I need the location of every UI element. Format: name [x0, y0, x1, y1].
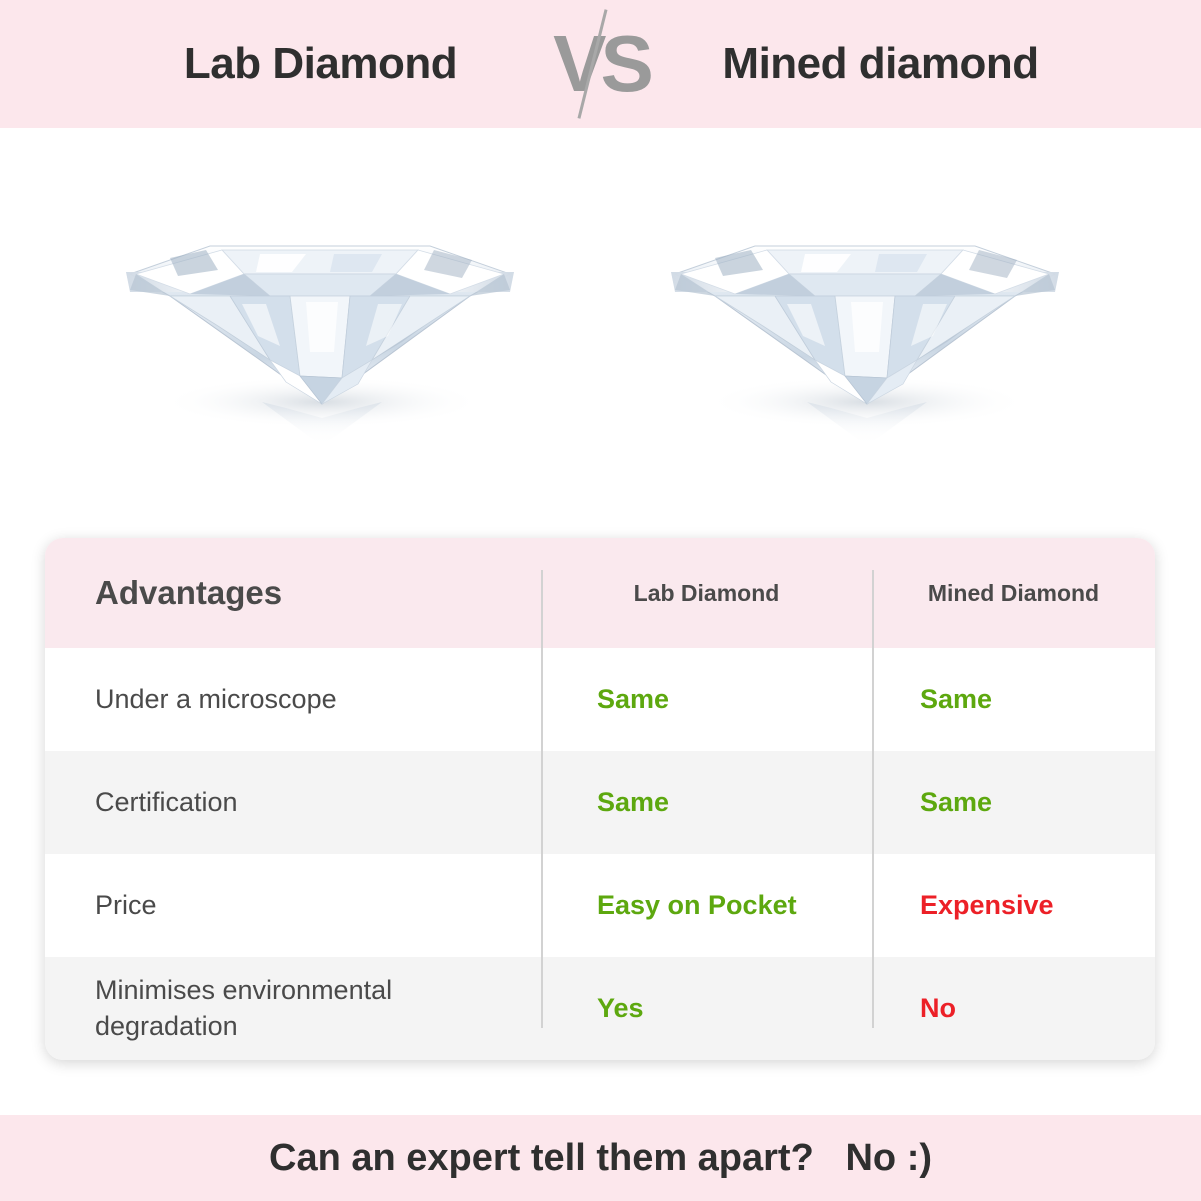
footer-question: Can an expert tell them apart? No :) [269, 1137, 932, 1180]
comparison-table-card: Advantages Lab Diamond Mined Diamond Und… [45, 538, 1155, 1060]
diamond-images-area [0, 128, 1201, 528]
table-row: Price Easy on Pocket Expensive [45, 854, 1155, 957]
column-header-advantages: Advantages [45, 574, 541, 612]
row-feature-label: Price [45, 888, 541, 924]
row-mined-value: Same [872, 787, 1155, 818]
column-divider-1 [541, 570, 543, 1028]
header-title-mined: Mined diamond [666, 39, 1096, 89]
row-lab-value: Same [541, 684, 872, 715]
header-band: Lab Diamond VS Mined diamond [0, 0, 1201, 128]
column-divider-2 [872, 570, 874, 1028]
row-mined-value: Same [872, 684, 1155, 715]
table-row: Minimises environmental degradation Yes … [45, 957, 1155, 1060]
column-header-lab-diamond: Lab Diamond [541, 580, 872, 607]
mined-diamond-image [655, 146, 1075, 476]
row-feature-label: Under a microscope [45, 682, 541, 718]
column-header-mined-diamond: Mined Diamond [872, 580, 1155, 607]
table-row: Certification Same Same [45, 751, 1155, 854]
header-title-lab: Lab Diamond [106, 39, 536, 89]
diamond-icon [110, 146, 530, 476]
lab-diamond-image [110, 146, 530, 476]
row-feature-label: Certification [45, 785, 541, 821]
row-lab-value: Yes [541, 993, 872, 1024]
row-lab-value: Same [541, 787, 872, 818]
versus-badge: VS [536, 0, 666, 128]
row-mined-value: No [872, 993, 1155, 1024]
table-header-row: Advantages Lab Diamond Mined Diamond [45, 538, 1155, 648]
row-feature-label: Minimises environmental degradation [45, 973, 541, 1044]
row-mined-value: Expensive [872, 890, 1155, 921]
table-row: Under a microscope Same Same [45, 648, 1155, 751]
diamond-icon [655, 146, 1075, 476]
row-lab-value: Easy on Pocket [541, 890, 872, 921]
footer-band: Can an expert tell them apart? No :) [0, 1115, 1201, 1201]
